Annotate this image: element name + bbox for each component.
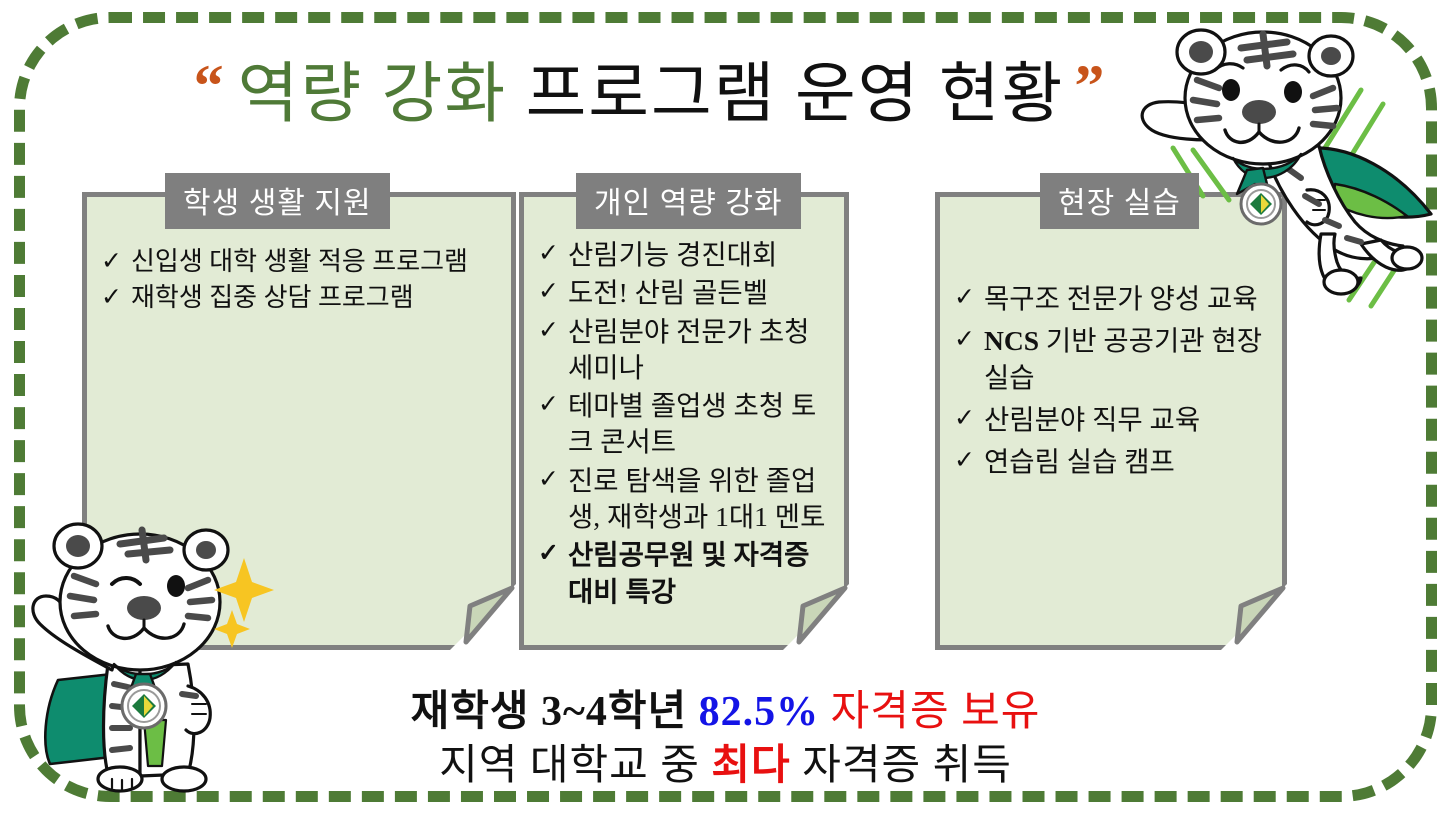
list-item-label: 산림기능 경진대회 [568,237,830,273]
check-icon: ✓ [101,245,131,278]
card-2-title: 개인 역량 강화 [576,173,801,229]
check-icon: ✓ [538,537,568,570]
list-item: ✓ 산림분야 직무 교육 [954,402,1268,438]
check-icon: ✓ [954,444,984,477]
list-item: ✓ 도전! 산림 골든벨 [538,275,830,311]
list-item-label: 재학생 집중 상담 프로그램 [131,281,497,315]
caption-percentage: 82.5% [699,689,820,735]
card-1-folded-corner [450,584,516,650]
check-icon: ✓ [101,281,131,314]
title-highlight: 역량 강화 [238,58,507,131]
check-icon: ✓ [954,323,984,356]
list-item-label: 도전! 산림 골든벨 [568,275,830,311]
list-item: ✓ 신입생 대학 생활 적응 프로그램 [101,245,497,279]
card-3-title: 현장 실습 [1040,173,1199,229]
card-2-item-list: ✓ 산림기능 경진대회 ✓ 도전! 산림 골든벨 ✓ 산림분야 전문가 초청 세… [538,237,830,610]
card-individual-competency: 개인 역량 강화 ✓ 산림기능 경진대회 ✓ 도전! 산림 골든벨 ✓ 산림분야… [519,192,849,650]
title-rest: 프로그램 운영 현황 [526,58,1065,131]
check-icon: ✓ [954,281,984,314]
slide-canvas: “역량 강화 프로그램 운영 현황” 학생 생활 지원 ✓ 신입생 대학 생활 … [0,0,1451,814]
caption-line2-part1: 지역 대학교 중 [439,743,711,789]
list-item-label: 진로 탐색을 위한 졸업생, 재학생과 1대1 멘토 [568,463,830,536]
check-icon: ✓ [538,388,568,421]
caption-line2-part2: 자격증 취득 [791,743,1012,789]
card-2-body: ✓ 산림기능 경진대회 ✓ 도전! 산림 골든벨 ✓ 산림분야 전문가 초청 세… [524,237,844,612]
standing-tiger-mascot [16,498,286,798]
check-icon: ✓ [538,275,568,308]
list-item-label: NCS 기반 공공기관 현장 실습 [984,323,1268,396]
check-icon: ✓ [538,314,568,347]
caption-emphasis: 최다 [711,743,790,789]
list-item: ✓ 테마별 졸업생 초청 토크 콘서트 [538,388,830,461]
list-item-label: 테마별 졸업생 초청 토크 콘서트 [568,388,830,461]
list-item: ✓ 산림기능 경진대회 [538,237,830,273]
list-item-label: 신입생 대학 생활 적응 프로그램 [131,245,497,279]
list-item-label: 산림분야 직무 교육 [984,402,1268,438]
list-item-label: 산림분야 전문가 초청 세미나 [568,314,830,387]
caption-line1-part1: 재학생 3~4학년 [411,689,699,735]
list-item: ✓ 재학생 집중 상담 프로그램 [101,281,497,315]
quote-open-mark: “ [194,53,226,119]
list-item-label: 연습림 실습 캠프 [984,444,1268,480]
check-icon: ✓ [538,463,568,496]
check-icon: ✓ [954,402,984,435]
bold-term: NCS [984,325,1039,356]
caption-line1-part2: 자격증 보유 [819,689,1040,735]
card-1-item-list: ✓ 신입생 대학 생활 적응 프로그램 ✓ 재학생 집중 상담 프로그램 [101,245,497,316]
flying-tiger-mascot [1135,8,1451,318]
list-item: ✓ 산림분야 전문가 초청 세미나 [538,314,830,387]
card-1-title: 학생 생활 지원 [165,173,390,229]
card-2-folded-corner [783,584,849,650]
card-3-folded-corner [1221,584,1287,650]
list-item: ✓ NCS 기반 공공기관 현장 실습 [954,323,1268,396]
list-item: ✓ 진로 탐색을 위한 졸업생, 재학생과 1대1 멘토 [538,463,830,536]
list-item: ✓ 연습림 실습 캠프 [954,444,1268,480]
check-icon: ✓ [538,237,568,270]
quote-close-mark: ” [1074,53,1106,119]
card-1-body: ✓ 신입생 대학 생활 적응 프로그램 ✓ 재학생 집중 상담 프로그램 [87,245,511,318]
page-title: “역량 강화 프로그램 운영 현황” [120,44,1180,140]
